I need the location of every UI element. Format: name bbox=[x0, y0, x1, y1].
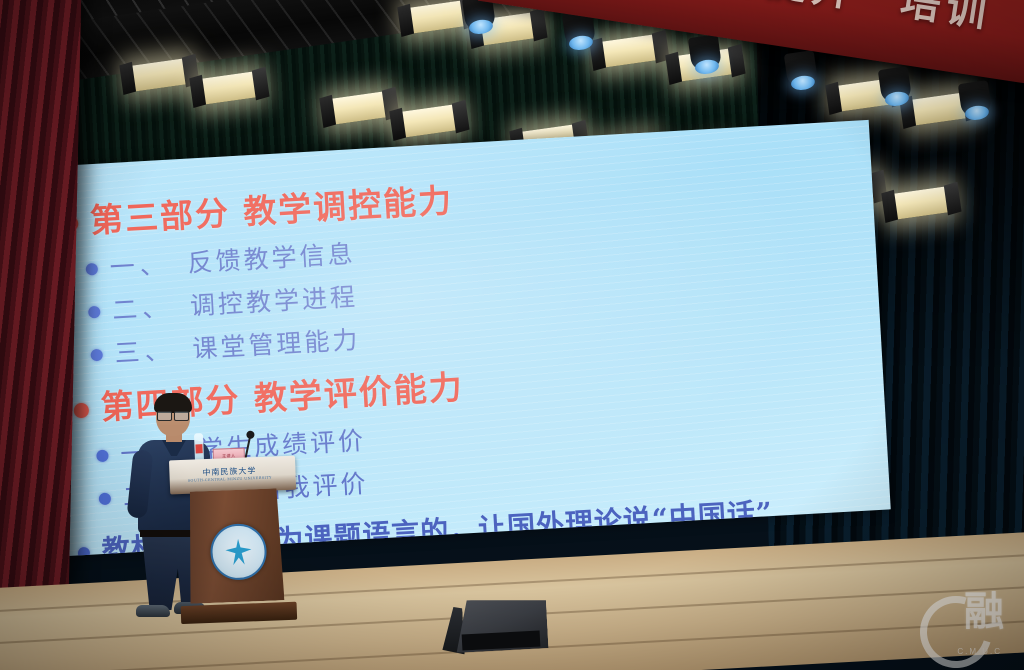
bullet-icon bbox=[96, 450, 109, 463]
lectern-institution-name-en: SOUTH-CENTRAL MINZU UNIVERSITY bbox=[176, 475, 284, 483]
glasses-icon bbox=[157, 411, 189, 419]
slide-subitem: 二、调控教学进程 bbox=[111, 277, 359, 327]
bullet-icon bbox=[88, 306, 101, 319]
watermark-subtext: C.M.U.C bbox=[957, 647, 1002, 656]
slide-subitem-number: 三、 bbox=[114, 336, 176, 368]
watermark-logo: 融 C.M.U.C bbox=[914, 582, 1010, 662]
stage-curtain-left bbox=[0, 0, 81, 591]
bullet-icon bbox=[99, 493, 112, 506]
slide-subitem: 三、课堂管理能力 bbox=[114, 320, 362, 370]
slide-subitem: 一、反馈教学信息 bbox=[109, 234, 357, 284]
lectern: 主讲人 中南民族大学 SOUTH-CENTRAL MINZU UNIVERSIT… bbox=[173, 456, 297, 620]
bullet-icon bbox=[73, 403, 89, 419]
stage-light-fixture bbox=[128, 58, 189, 92]
presenter-hair bbox=[154, 393, 192, 413]
auditorium-photo: 员 “自身能力提升” 培训 第三部分 教学调控能力 一、反馈教学信息 二、调控教… bbox=[0, 0, 1024, 670]
stage-monitor-speaker bbox=[453, 587, 566, 655]
presenter-shoe bbox=[136, 605, 170, 617]
stage-light-fixture bbox=[198, 71, 259, 105]
slide-subitem-label: 课堂管理能力 bbox=[192, 325, 361, 363]
slide-subitem-label: 反馈教学信息 bbox=[187, 239, 356, 277]
seal-emblem-icon bbox=[225, 538, 252, 565]
lectern-institution-label: 中南民族大学 SOUTH-CENTRAL MINZU UNIVERSITY bbox=[175, 464, 283, 483]
bullet-icon bbox=[90, 349, 103, 362]
watermark-character: 融 bbox=[964, 592, 1004, 632]
stage-light-fixture bbox=[598, 34, 659, 68]
slide-subitem-number: 二、 bbox=[111, 293, 173, 325]
par-can-spotlight bbox=[784, 50, 818, 88]
stage-light-fixture bbox=[406, 0, 467, 34]
slide-subitem-label: 调控教学进程 bbox=[189, 282, 358, 320]
stage-light-fixture bbox=[328, 91, 389, 125]
lectern-top: 中南民族大学 SOUTH-CENTRAL MINZU UNIVERSITY bbox=[169, 456, 296, 495]
bullet-icon bbox=[86, 263, 99, 276]
slide-subitem-number: 一、 bbox=[109, 250, 171, 282]
stage-light-fixture bbox=[890, 186, 951, 220]
stage-light-fixture bbox=[398, 104, 459, 138]
